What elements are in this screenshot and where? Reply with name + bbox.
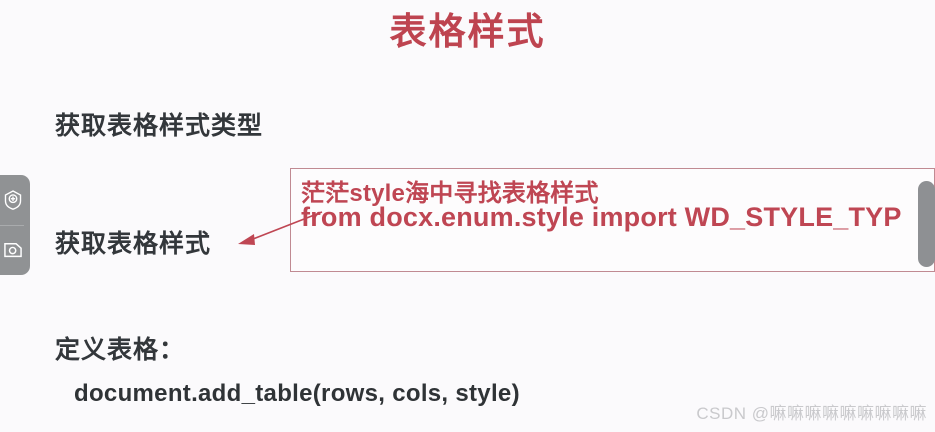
page-title: 表格样式 xyxy=(0,8,935,56)
floating-toolbar[interactable] xyxy=(0,175,30,275)
toolbar-item-screenshot[interactable] xyxy=(0,235,26,265)
shield-plus-icon xyxy=(2,189,24,211)
scrollbar-thumb[interactable] xyxy=(918,181,935,267)
camera-icon xyxy=(2,239,24,261)
slide-canvas: 表格样式 获取表格样式类型 获取表格样式 定义表格： document.add_… xyxy=(0,0,935,432)
callout-box: 茫茫style海中寻找表格样式 from docx.enum.style imp… xyxy=(290,168,935,272)
heading-get-style-type: 获取表格样式类型 xyxy=(55,106,263,142)
heading-get-table-style: 获取表格样式 xyxy=(55,224,211,260)
code-snippet-add-table: document.add_table(rows, cols, style) xyxy=(74,380,520,408)
heading-define-table: 定义表格： xyxy=(55,330,185,366)
callout-line-import-statement: from docx.enum.style import WD_STYLE_TYP xyxy=(301,202,902,233)
csdn-watermark: CSDN @嘛嘛嘛嘛嘛嘛嘛嘛嘛 xyxy=(696,399,927,424)
toolbar-item-shield[interactable] xyxy=(0,185,26,215)
toolbar-divider xyxy=(0,225,24,226)
